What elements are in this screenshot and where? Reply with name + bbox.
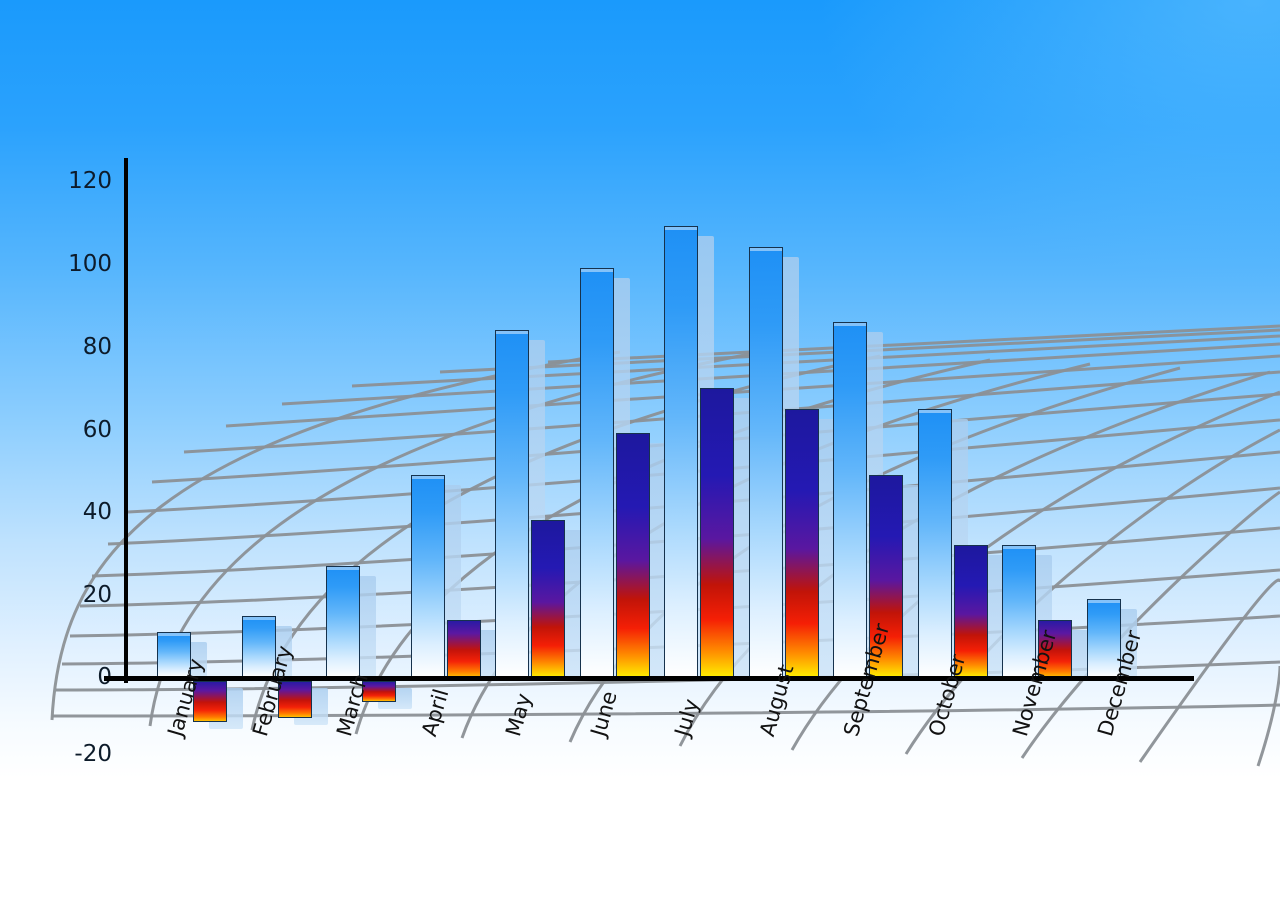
bar-blue-may[interactable] [495,330,529,678]
bar-top-highlight [750,248,782,251]
x-label-march: March [334,671,372,738]
y-tick-20: 20 [52,584,112,607]
bar-top-highlight [919,410,951,413]
y-tick-120: 120 [52,170,112,193]
bar-blue-august[interactable] [749,247,783,678]
bar-top-highlight [665,227,697,230]
bar-top-highlight [581,269,613,272]
plot-area: 120 100 80 60 40 20 0 -20 JanuaryFebruar… [0,0,1280,905]
bar-top-highlight [158,633,190,636]
bar-blue-september[interactable] [833,322,867,678]
x-label-april: April [419,687,452,739]
bar-blue-march[interactable] [326,566,360,678]
y-axis-tick-labels: 120 100 80 60 40 20 0 -20 [40,0,112,905]
bar-top-highlight [1003,546,1035,549]
bar-top-highlight [1088,600,1120,603]
x-label-july: July [672,697,703,739]
y-tick-60: 60 [52,419,112,442]
bar-hot-may[interactable] [531,520,565,678]
y-tick-80: 80 [52,336,112,359]
x-label-may: May [503,691,535,739]
bar-top-highlight [834,323,866,326]
bar-hot-april[interactable] [447,620,481,678]
y-tick-minus-20: -20 [52,743,112,766]
bar-top-highlight [327,567,359,570]
y-tick-40: 40 [52,501,112,524]
bar-blue-june[interactable] [580,268,614,678]
bar-blue-july[interactable] [664,226,698,678]
bar-blue-october[interactable] [918,409,952,678]
y-axis-line [124,158,128,683]
bar-hot-june[interactable] [616,433,650,678]
chart-canvas: 120 100 80 60 40 20 0 -20 JanuaryFebruar… [0,0,1280,905]
bar-top-highlight [412,476,444,479]
y-tick-100: 100 [52,253,112,276]
x-label-june: June [588,689,621,739]
y-tick-0: 0 [52,666,112,689]
bar-top-highlight [496,331,528,334]
bar-hot-july[interactable] [700,388,734,678]
bar-top-highlight [243,617,275,620]
bar-blue-april[interactable] [411,475,445,678]
bar-hot-august[interactable] [785,409,819,678]
